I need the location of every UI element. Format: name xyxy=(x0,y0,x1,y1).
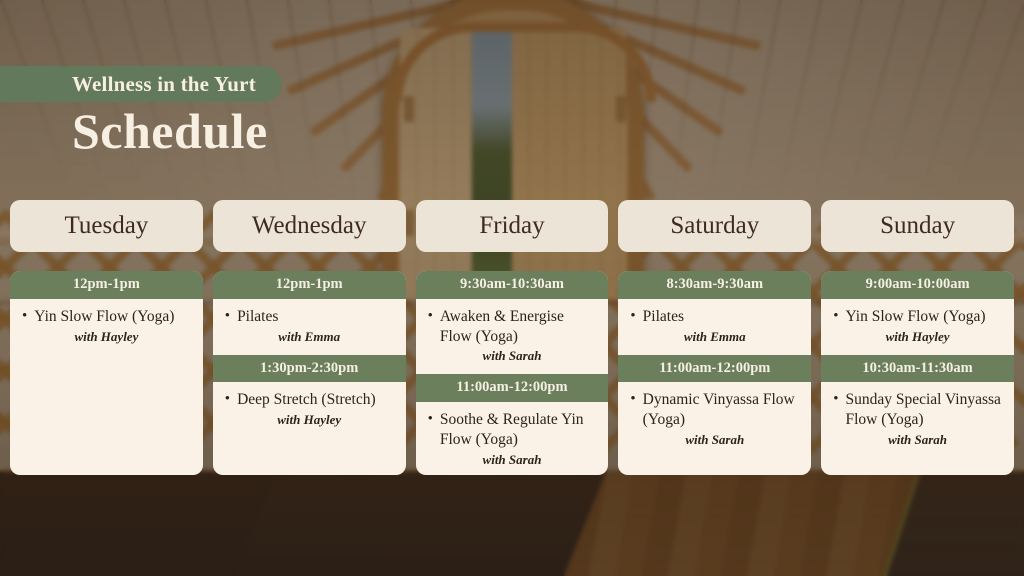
session-teacher: with Sarah xyxy=(628,432,801,448)
session-entry[interactable]: •Yin Slow Flow (Yoga)with Hayley xyxy=(821,299,1014,355)
session-entry[interactable]: •Soothe & Regulate Yin Flow (Yoga)with S… xyxy=(416,402,609,475)
session-teacher: with Hayley xyxy=(20,329,193,345)
session-entry[interactable]: •Sunday Special Vinyassa Flow (Yoga)with… xyxy=(821,382,1014,458)
schedule-card: 12pm-1pm•Pilateswith Emma1:30pm-2:30pm•D… xyxy=(213,271,406,475)
card-spacer xyxy=(213,438,406,475)
session-teacher: with Hayley xyxy=(223,412,396,428)
time-band: 1:30pm-2:30pm xyxy=(213,355,406,383)
day-column-saturday: Saturday8:30am-9:30am•Pilateswith Emma11… xyxy=(618,200,811,475)
bullet-icon: • xyxy=(428,307,433,347)
day-column-wednesday: Wednesday12pm-1pm•Pilateswith Emma1:30pm… xyxy=(213,200,406,475)
day-header-wednesday[interactable]: Wednesday xyxy=(213,200,406,252)
session-teacher: with Hayley xyxy=(831,329,1004,345)
session-title-row: •Deep Stretch (Stretch) xyxy=(223,390,396,410)
session-title-row: •Yin Slow Flow (Yoga) xyxy=(20,307,193,327)
session-name: Sunday Special Vinyassa Flow (Yoga) xyxy=(845,390,1004,430)
bullet-icon: • xyxy=(833,390,838,430)
session-name: Deep Stretch (Stretch) xyxy=(237,390,396,410)
session-title-row: •Yin Slow Flow (Yoga) xyxy=(831,307,1004,327)
session-teacher: with Sarah xyxy=(831,432,1004,448)
bullet-icon: • xyxy=(225,390,230,410)
banner-label: Wellness in the Yurt xyxy=(72,72,256,97)
session-entry[interactable]: •Yin Slow Flow (Yoga)with Hayley xyxy=(10,299,203,355)
bullet-icon: • xyxy=(428,410,433,450)
session-entry[interactable]: •Deep Stretch (Stretch)with Hayley xyxy=(213,382,406,438)
schedule-card: 9:00am-10:00am•Yin Slow Flow (Yoga)with … xyxy=(821,271,1014,475)
session-teacher: with Sarah xyxy=(426,348,599,364)
bullet-icon: • xyxy=(833,307,838,327)
schedule-poster: Wellness in the Yurt Schedule Tuesday12p… xyxy=(0,0,1024,576)
session-name: Pilates xyxy=(237,307,396,327)
time-band: 11:00am-12:00pm xyxy=(618,355,811,383)
session-entry[interactable]: •Pilateswith Emma xyxy=(618,299,811,355)
banner-wellness-in-the-yurt: Wellness in the Yurt xyxy=(0,66,282,102)
session-title-row: •Dynamic Vinyassa Flow (Yoga) xyxy=(628,390,801,430)
session-name: Pilates xyxy=(643,307,802,327)
schedule-grid: Tuesday12pm-1pm•Yin Slow Flow (Yoga)with… xyxy=(10,200,1014,475)
session-title-row: •Pilates xyxy=(223,307,396,327)
schedule-card: 8:30am-9:30am•Pilateswith Emma11:00am-12… xyxy=(618,271,811,475)
session-teacher: with Emma xyxy=(628,329,801,345)
session-name: Yin Slow Flow (Yoga) xyxy=(845,307,1004,327)
card-spacer xyxy=(10,355,203,476)
session-name: Yin Slow Flow (Yoga) xyxy=(34,307,193,327)
session-name: Dynamic Vinyassa Flow (Yoga) xyxy=(643,390,802,430)
time-band: 9:00am-10:00am xyxy=(821,271,1014,299)
session-entry[interactable]: •Dynamic Vinyassa Flow (Yoga)with Sarah xyxy=(618,382,811,458)
session-title-row: •Sunday Special Vinyassa Flow (Yoga) xyxy=(831,390,1004,430)
session-entry[interactable]: •Awaken & Energise Flow (Yoga)with Sarah xyxy=(416,299,609,375)
card-spacer xyxy=(821,458,1014,475)
bullet-icon: • xyxy=(630,307,635,327)
session-name: Awaken & Energise Flow (Yoga) xyxy=(440,307,599,347)
day-header-tuesday[interactable]: Tuesday xyxy=(10,200,203,252)
time-band: 12pm-1pm xyxy=(213,271,406,299)
schedule-card: 9:30am-10:30am•Awaken & Energise Flow (Y… xyxy=(416,271,609,475)
bullet-icon: • xyxy=(225,307,230,327)
session-teacher: with Sarah xyxy=(426,452,599,468)
time-band: 8:30am-9:30am xyxy=(618,271,811,299)
day-column-sunday: Sunday9:00am-10:00am•Yin Slow Flow (Yoga… xyxy=(821,200,1014,475)
time-band: 12pm-1pm xyxy=(10,271,203,299)
card-spacer xyxy=(618,458,811,475)
day-header-sunday[interactable]: Sunday xyxy=(821,200,1014,252)
day-column-tuesday: Tuesday12pm-1pm•Yin Slow Flow (Yoga)with… xyxy=(10,200,203,475)
session-title-row: •Awaken & Energise Flow (Yoga) xyxy=(426,307,599,347)
day-header-friday[interactable]: Friday xyxy=(416,200,609,252)
time-band: 11:00am-12:00pm xyxy=(416,374,609,402)
time-band: 9:30am-10:30am xyxy=(416,271,609,299)
day-column-friday: Friday9:30am-10:30am•Awaken & Energise F… xyxy=(416,200,609,475)
schedule-card: 12pm-1pm•Yin Slow Flow (Yoga)with Hayley xyxy=(10,271,203,475)
session-title-row: •Soothe & Regulate Yin Flow (Yoga) xyxy=(426,410,599,450)
page-title: Schedule xyxy=(72,104,268,159)
bullet-icon: • xyxy=(22,307,27,327)
session-entry[interactable]: •Pilateswith Emma xyxy=(213,299,406,355)
session-teacher: with Emma xyxy=(223,329,396,345)
bullet-icon: • xyxy=(630,390,635,430)
time-band: 10:30am-11:30am xyxy=(821,355,1014,383)
session-name: Soothe & Regulate Yin Flow (Yoga) xyxy=(440,410,599,450)
session-title-row: •Pilates xyxy=(628,307,801,327)
day-header-saturday[interactable]: Saturday xyxy=(618,200,811,252)
